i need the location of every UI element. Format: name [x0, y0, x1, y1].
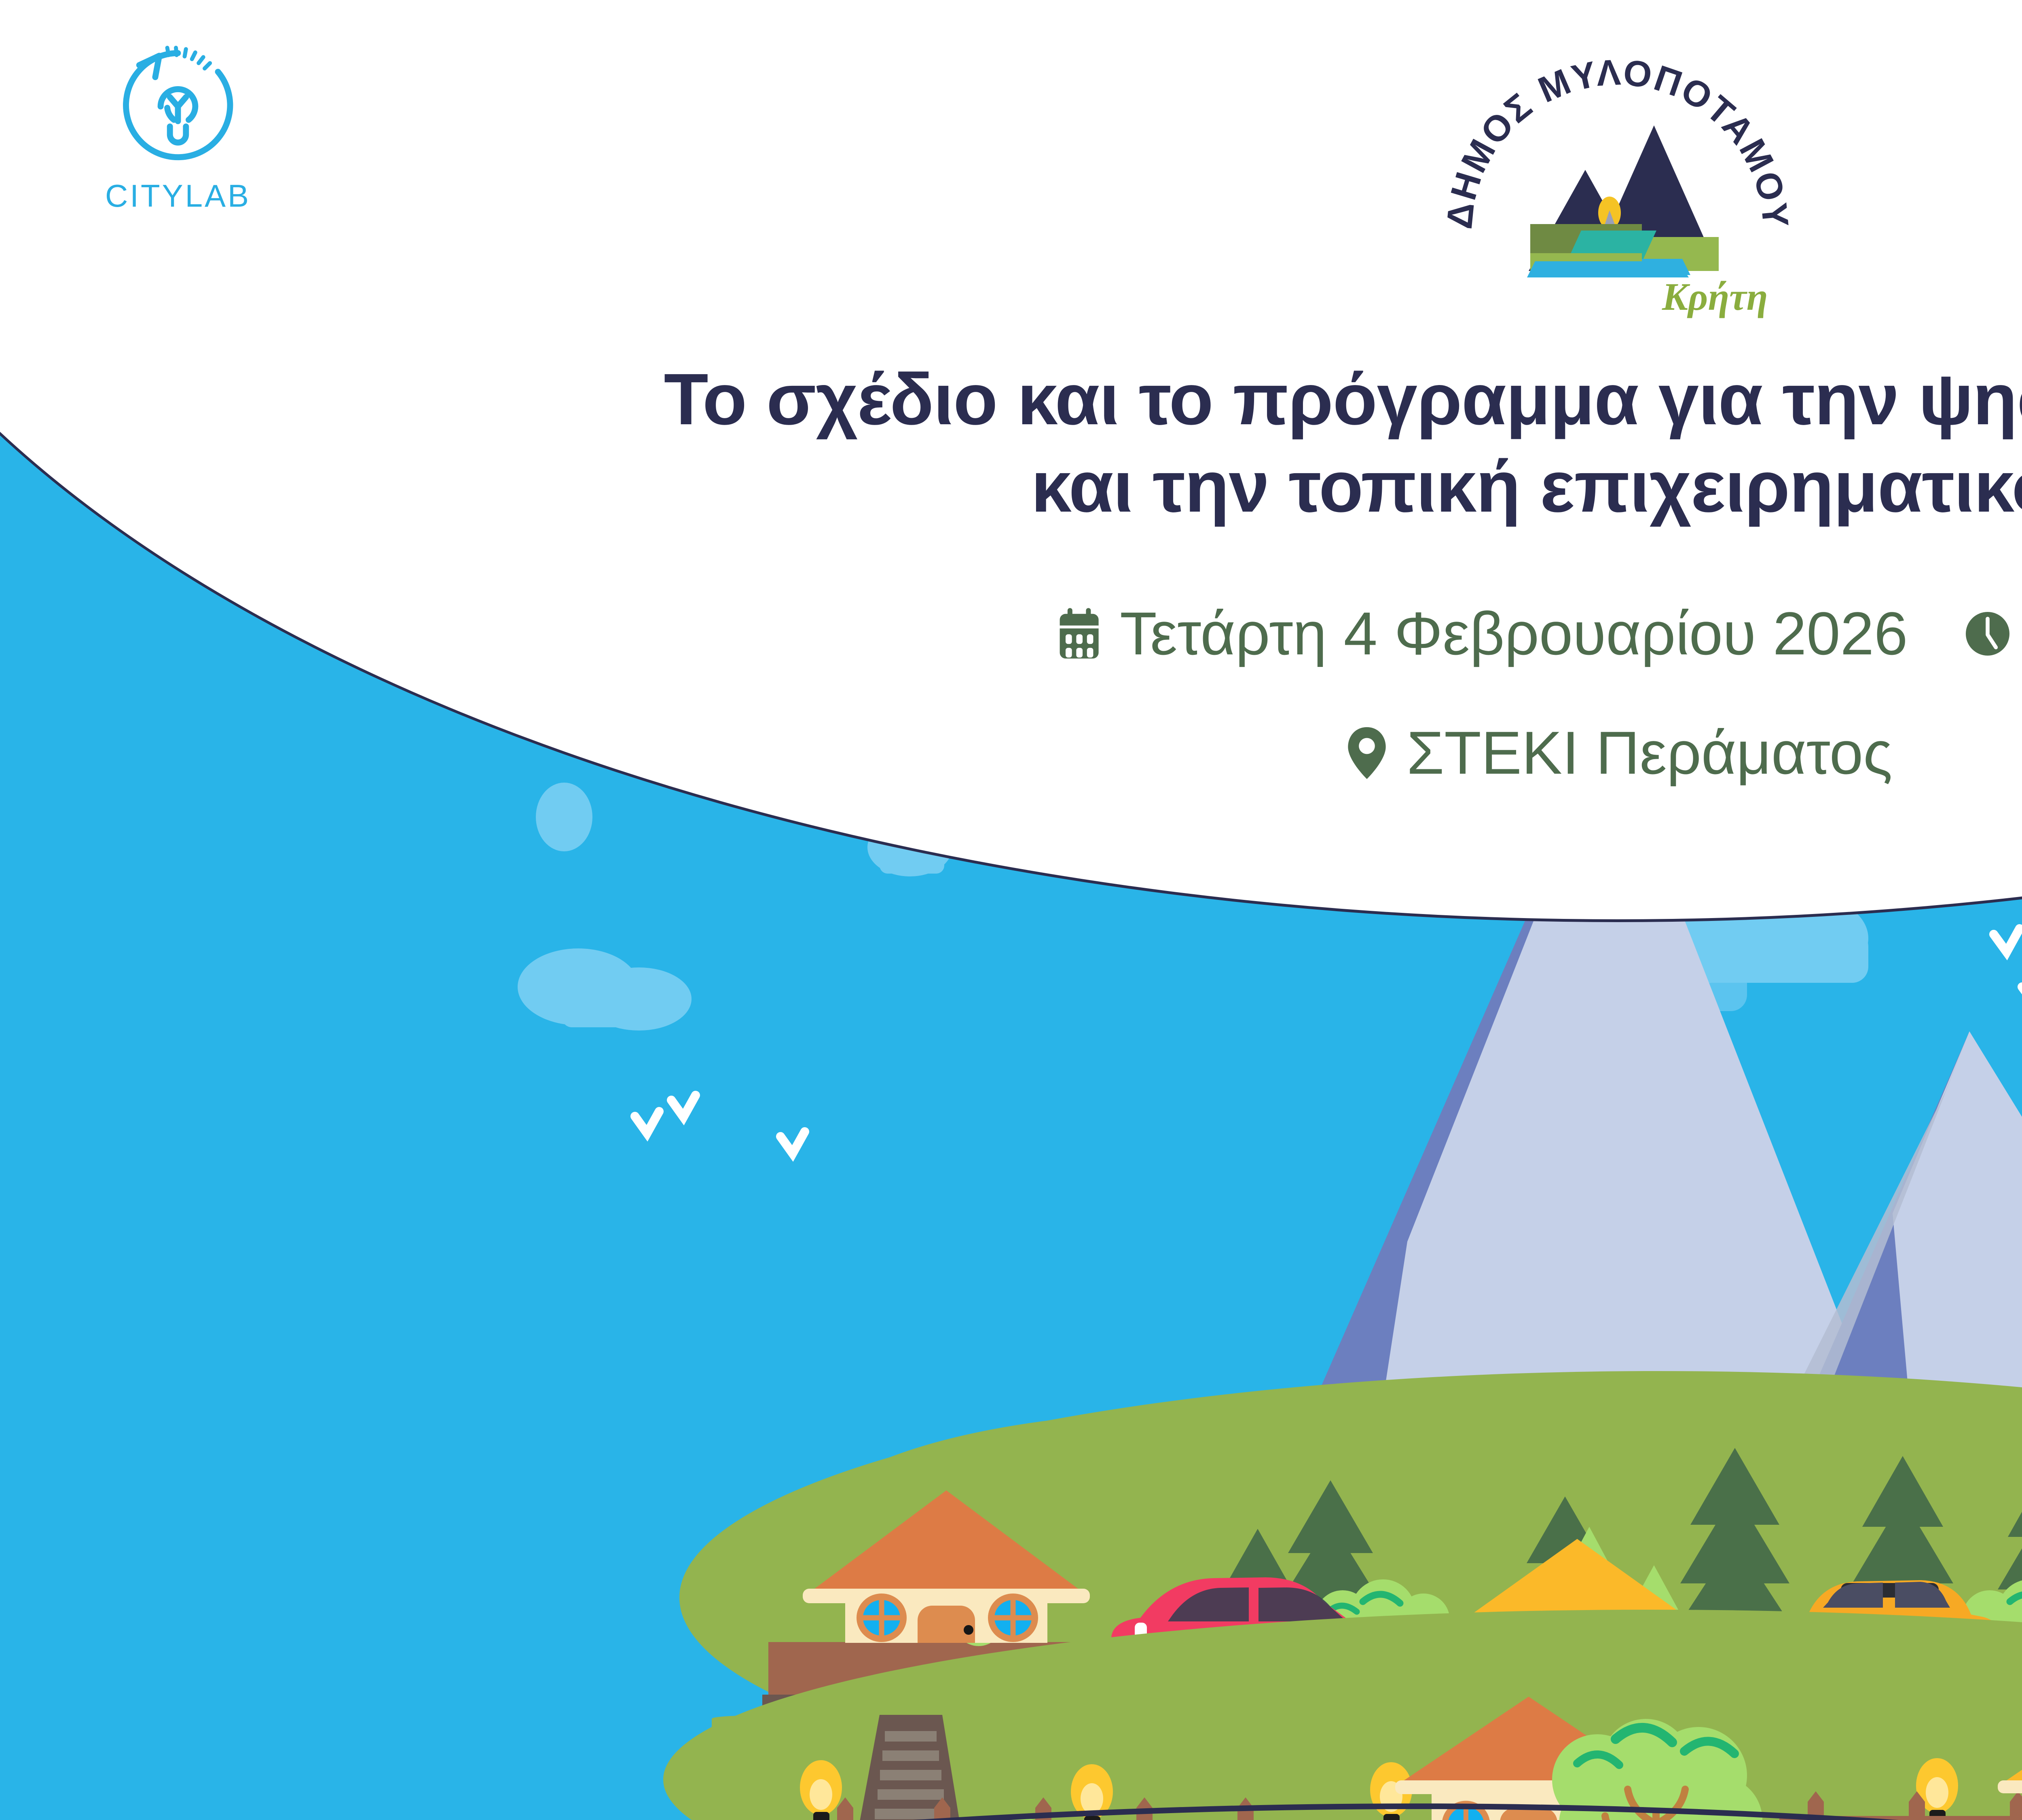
event-location-row: ΣΤΕΚΙ Περάματος: [0, 718, 2022, 788]
event-datetime-row: Τετάρτη 4 Φεβρουαρίου 2026 17:30: [0, 599, 2022, 669]
cloud-icon: [518, 948, 692, 1031]
citylab-label: CITYLAB: [85, 178, 271, 214]
event-location-text: ΣΤΕΚΙ Περάματος: [1407, 718, 1892, 788]
mountain-landscape-icon: [1527, 125, 1719, 277]
bird-icon: [1994, 929, 2020, 952]
event-date-text: Τετάρτη 4 Φεβρουαρίου 2026: [1120, 599, 1908, 669]
municipality-subtitle: Κρήτη: [1662, 275, 1768, 318]
cloud-icon: [536, 783, 592, 851]
map-pin-icon: [1343, 725, 1391, 781]
citylab-logo[interactable]: CITYLAB: [85, 38, 271, 214]
event-location: ΣΤΕΚΙ Περάματος: [1343, 718, 1892, 788]
poster-canvas: CITYLAB ΔΗΜΟΣ ΜΥΛΟΠΟΤΑΜΟΥ Κρήτη Το σχέδι…: [0, 0, 2022, 1820]
event-time: 17:30: [1963, 599, 2022, 669]
page-title: Το σχέδιο και το πρόγραμμα για την ψηφια…: [0, 356, 2022, 531]
municipality-logo[interactable]: ΔΗΜΟΣ ΜΥΛΟΠΟΤΑΜΟΥ Κρήτη: [1440, 28, 1796, 320]
event-date: Τετάρτη 4 Φεβρουαρίου 2026: [1056, 599, 1908, 669]
door: [918, 1606, 975, 1643]
headline-line-2: και την τοπική επιχειρηματικότητα: [0, 443, 2022, 531]
roof-eave: [1998, 1780, 2022, 1793]
bird-icon: [671, 1095, 696, 1117]
bird-icon: [780, 1132, 805, 1153]
lightbulb-refresh-circle-icon: [111, 38, 245, 172]
clock-icon: [1963, 605, 2012, 662]
calendar-icon: [1056, 605, 1104, 662]
bird-icon: [635, 1111, 659, 1133]
headline-line-1: Το σχέδιο και το πρόγραμμα για την ψηφια…: [664, 359, 2022, 440]
roof-eave: [803, 1589, 1090, 1603]
